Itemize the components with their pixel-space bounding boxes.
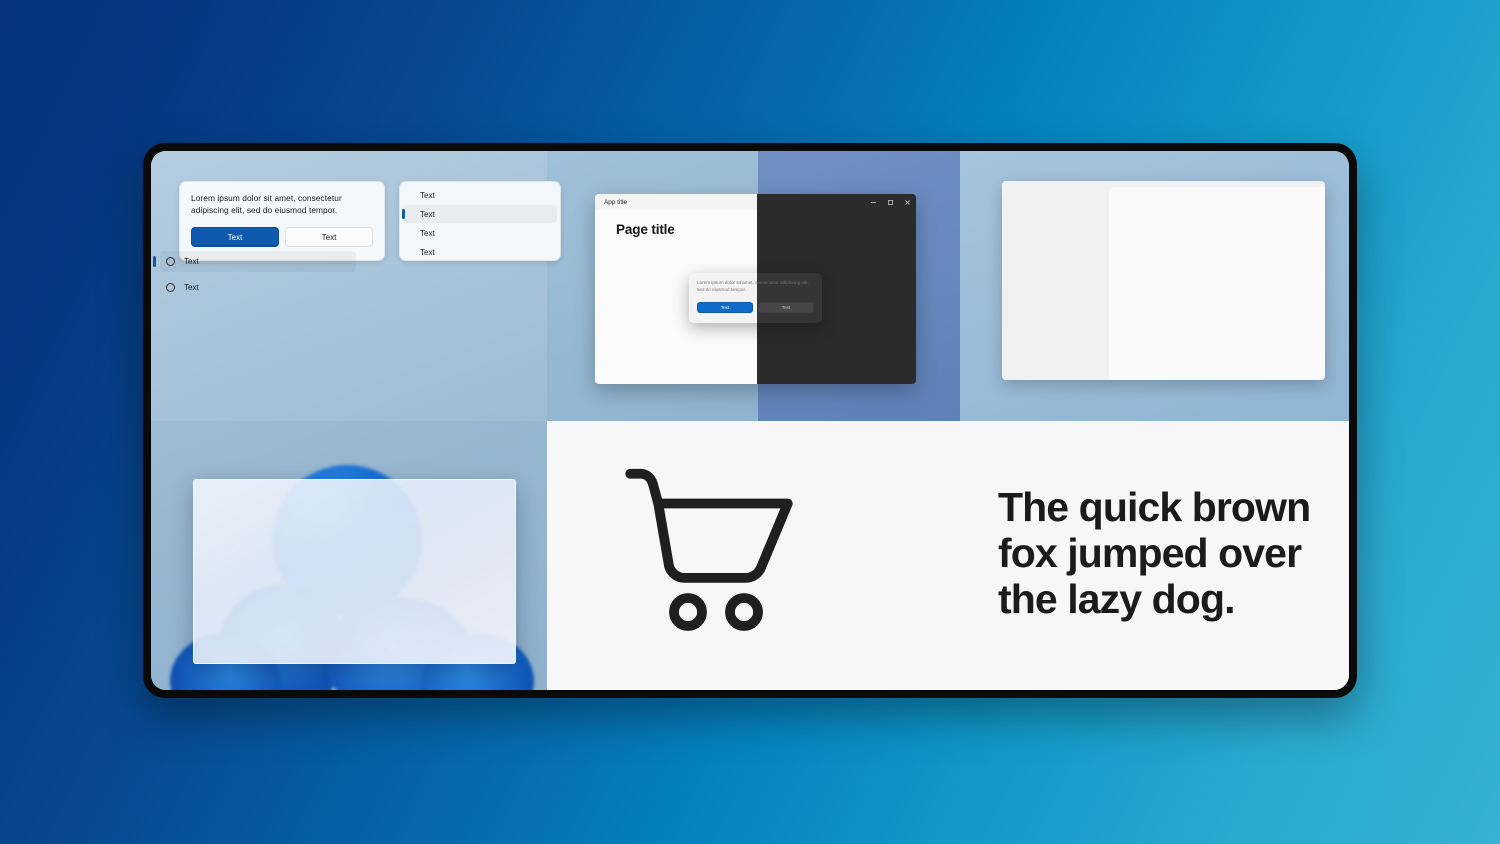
dialog-card: Lorem ipsum dolor sit amet, consectetur … [179, 181, 385, 261]
list-item[interactable]: Text [403, 205, 557, 223]
split-window-app-title: App title [604, 199, 627, 206]
empty-window-content [1109, 187, 1325, 380]
circle-icon [166, 283, 175, 292]
content-dialog-inner: Lorem ipsum dolor sit amet, consectetur … [689, 273, 822, 323]
nav-item[interactable]: Text [160, 251, 356, 272]
content-dialog: Lorem ipsum dolor sit amet, consectetur … [689, 273, 822, 323]
device-frame: Lorem ipsum dolor sit amet, consectetur … [143, 143, 1357, 698]
screen-canvas: Lorem ipsum dolor sit amet, consectetur … [151, 151, 1349, 690]
nav-item[interactable]: Text [160, 277, 356, 298]
content-dialog-primary-button[interactable]: Text [697, 302, 753, 313]
dialog-card-button-row: Text Text [191, 227, 373, 247]
split-window-titlebar-light: App title [595, 194, 757, 210]
dialog-card-secondary-button[interactable]: Text [285, 227, 373, 247]
shopping-cart-icon [621, 465, 797, 638]
empty-window-pane [1002, 181, 1109, 380]
typography-specimen: The quick brown fox jumped over the lazy… [998, 485, 1338, 623]
dialog-card-body-text: Lorem ipsum dolor sit amet, consectetur … [191, 192, 373, 216]
close-icon[interactable] [899, 194, 916, 210]
dialog-card-primary-button[interactable]: Text [191, 227, 279, 247]
content-dialog-secondary-button[interactable]: Text [758, 302, 814, 313]
content-dialog-button-row: Text Text [697, 302, 814, 313]
empty-app-window [1002, 181, 1325, 380]
nav-item-label: Text [184, 257, 199, 266]
split-theme-app-window: App title Page title Lorem ipsum dolor s… [595, 194, 916, 384]
list-item[interactable]: Text [403, 186, 557, 204]
minimize-icon[interactable] [865, 194, 882, 210]
circle-icon [166, 257, 175, 266]
nav-item-label: Text [184, 283, 199, 292]
list-item[interactable]: Text [403, 243, 557, 261]
acrylic-material-panel [193, 479, 516, 664]
list-item[interactable]: Text [403, 224, 557, 242]
split-window-titlebar-dark [757, 194, 916, 210]
maximize-icon[interactable] [882, 194, 899, 210]
content-dialog-body-text: Lorem ipsum dolor sit amet, consectetur … [697, 280, 814, 294]
list-view[interactable]: Text Text Text Text [399, 181, 561, 261]
material-showcase-tile [151, 421, 547, 690]
split-window-page-title: Page title [616, 222, 675, 237]
